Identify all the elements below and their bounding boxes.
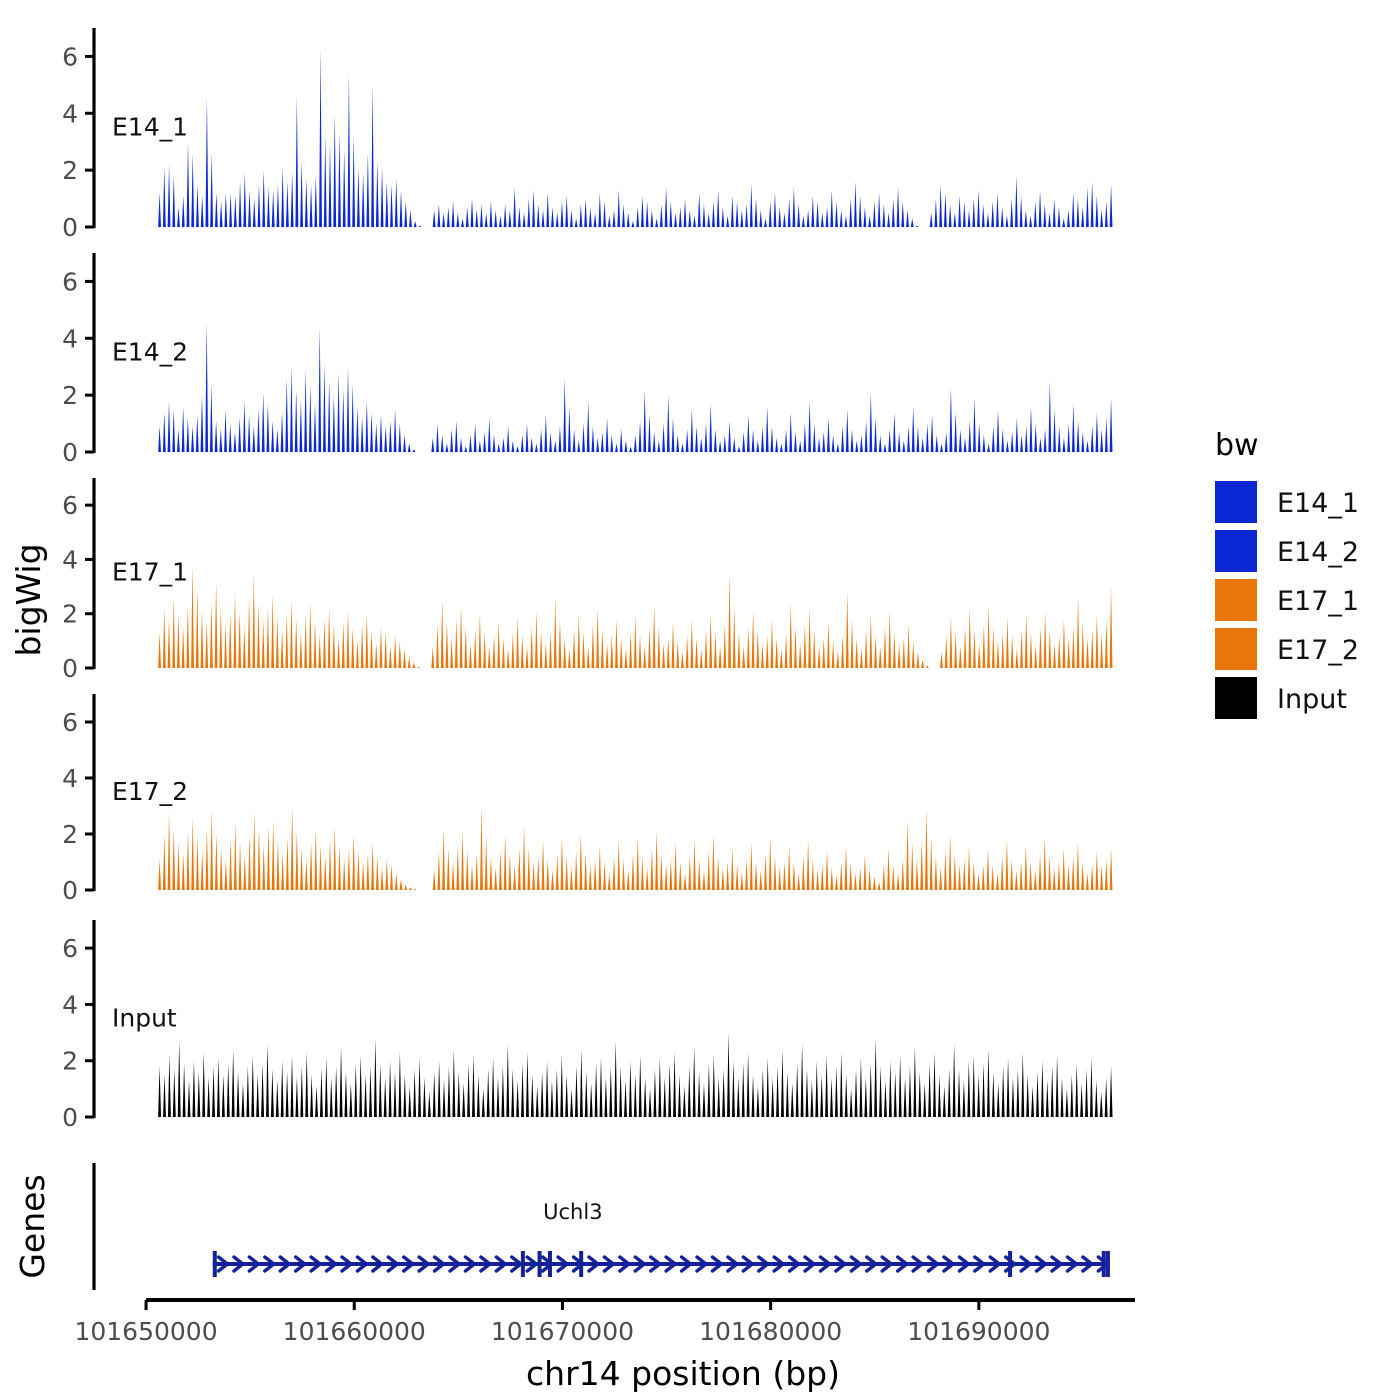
y-tick-label: 0 — [62, 438, 78, 467]
x-tick-label: 101680000 — [699, 1317, 842, 1346]
y-axis-title: bigWig — [9, 543, 48, 656]
y-tick-label: 4 — [62, 324, 78, 353]
y-tick-label: 6 — [62, 491, 78, 520]
gene-name-label: Uchl3 — [543, 1200, 602, 1224]
x-tick-label: 101670000 — [491, 1317, 634, 1346]
y-tick-label: 4 — [62, 764, 78, 793]
y-tick-label: 4 — [62, 990, 78, 1019]
y-tick-label: 6 — [62, 934, 78, 963]
y-tick-label: 0 — [62, 1103, 78, 1132]
legend-label: Input — [1277, 684, 1347, 715]
x-tick-label: 101660000 — [283, 1317, 426, 1346]
y-tick-label: 2 — [62, 381, 78, 410]
legend-swatch — [1215, 481, 1257, 523]
y-tick-label: 6 — [62, 708, 78, 737]
panel-strip-label-input: Input — [112, 1003, 177, 1032]
legend-swatch — [1215, 677, 1257, 719]
legend-title: bw — [1215, 428, 1259, 463]
legend-swatch — [1215, 579, 1257, 621]
legend-item-e17_2[interactable]: E17_2 — [1215, 628, 1359, 670]
y-tick-label: 6 — [62, 267, 78, 296]
figure-background — [0, 0, 1400, 1400]
panel-strip-label-e14_2: E14_2 — [112, 337, 188, 366]
legend-label: E14_1 — [1277, 488, 1359, 519]
x-tick-label: 101690000 — [907, 1317, 1050, 1346]
y-tick-label: 2 — [62, 600, 78, 629]
y-tick-label: 2 — [62, 820, 78, 849]
legend-item-input[interactable]: Input — [1215, 677, 1347, 719]
y-tick-label: 0 — [62, 876, 78, 905]
x-axis-title: chr14 position (bp) — [526, 1354, 840, 1393]
y-tick-label: 4 — [62, 545, 78, 574]
legend-item-e14_1[interactable]: E14_1 — [1215, 481, 1359, 523]
x-tick-label: 101650000 — [74, 1317, 217, 1346]
legend-label: E17_2 — [1277, 635, 1359, 666]
y-tick-label: 4 — [62, 99, 78, 128]
legend-item-e14_2[interactable]: E14_2 — [1215, 530, 1359, 572]
panel-strip-label-e17_1: E17_1 — [112, 558, 188, 587]
panel-strip-label-e17_2: E17_2 — [112, 777, 188, 806]
y-tick-label: 0 — [62, 213, 78, 242]
genome-browser-figure: 0246E14_10246E14_20246E17_10246E17_20246… — [0, 0, 1400, 1400]
legend-item-e17_1[interactable]: E17_1 — [1215, 579, 1359, 621]
legend-swatch — [1215, 628, 1257, 670]
genes-strip-label: Genes — [13, 1174, 52, 1278]
legend-swatch — [1215, 530, 1257, 572]
y-tick-label: 2 — [62, 1047, 78, 1076]
legend-label: E17_1 — [1277, 586, 1359, 617]
y-tick-label: 6 — [62, 42, 78, 71]
y-tick-label: 0 — [62, 654, 78, 683]
y-tick-label: 2 — [62, 156, 78, 185]
legend-label: E14_2 — [1277, 537, 1359, 568]
panel-strip-label-e14_1: E14_1 — [112, 112, 188, 141]
